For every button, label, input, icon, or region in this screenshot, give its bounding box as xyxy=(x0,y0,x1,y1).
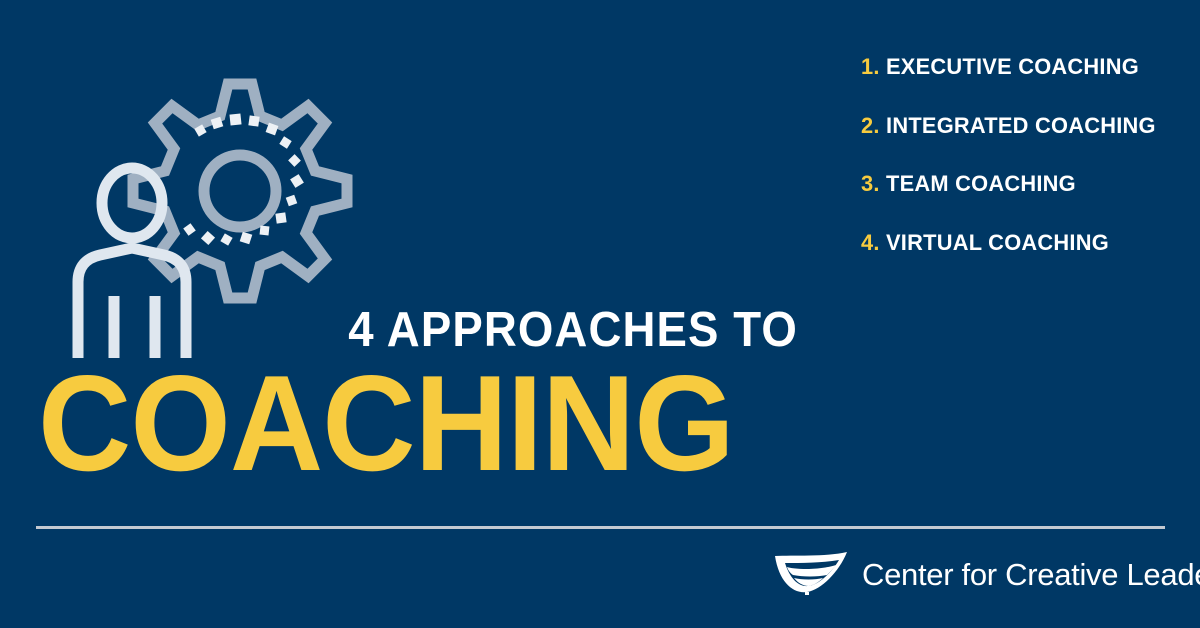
list-item-label: EXECUTIVE COACHING xyxy=(886,54,1139,79)
list-item-label: VIRTUAL COACHING xyxy=(886,230,1109,255)
list-item: 2. INTEGRATED COACHING xyxy=(861,115,1171,138)
list-item-label: INTEGRATED COACHING xyxy=(886,113,1156,138)
list-item-number: 2. xyxy=(861,113,880,138)
list-item-label: TEAM COACHING xyxy=(886,171,1076,196)
poster-canvas: 4 APPROACHES TO COACHING 1. EXECUTIVE CO… xyxy=(0,0,1200,628)
approaches-list: 1. EXECUTIVE COACHING 2. INTEGRATED COAC… xyxy=(861,56,1181,254)
brand-logo: Center for Creative Leadership® xyxy=(773,546,1200,600)
list-item-number: 4. xyxy=(861,230,880,255)
headline-block: 4 APPROACHES TO COACHING xyxy=(38,306,798,486)
ccl-swoosh-icon xyxy=(773,550,851,596)
list-item-number: 3. xyxy=(861,171,880,196)
brand-wordmark-text: Center for Creative Leadership xyxy=(862,557,1200,592)
list-item: 3. TEAM COACHING xyxy=(861,173,1171,196)
list-item: 1. EXECUTIVE COACHING xyxy=(861,56,1171,79)
page-title: COACHING xyxy=(38,361,760,486)
brand-wordmark: Center for Creative Leadership® xyxy=(862,559,1200,590)
divider xyxy=(36,526,1165,529)
list-item: 4. VIRTUAL COACHING xyxy=(861,232,1171,255)
gear-inner-circle xyxy=(204,155,276,227)
list-item-number: 1. xyxy=(861,54,880,79)
